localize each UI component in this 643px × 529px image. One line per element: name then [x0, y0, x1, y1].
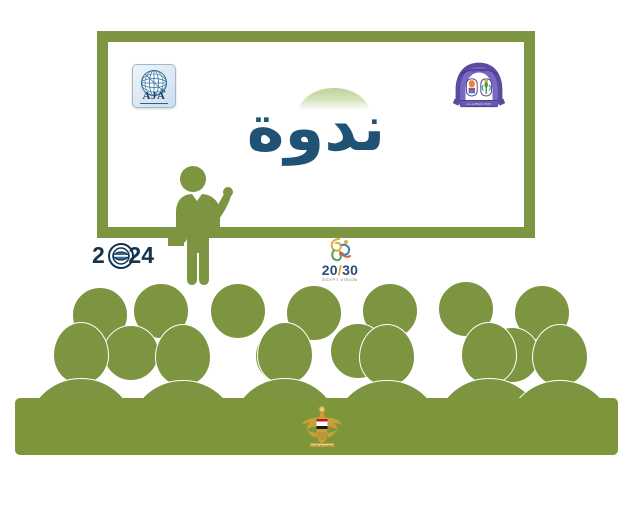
- audience-head-front: [53, 322, 109, 384]
- audience-figures: [0, 280, 643, 410]
- audience-head-front: [155, 324, 211, 386]
- egypt-coat-of-arms: جمهورية مصر العربية: [300, 404, 344, 450]
- egypt-vision-2030-logo: 20/30 EGYPT VISION: [312, 237, 368, 283]
- vision-digits-left: 20: [322, 262, 338, 278]
- poster-title: ندوة: [108, 97, 524, 161]
- whiteboard-frame: AJA جامعة الأزهر A: [97, 31, 535, 238]
- audience-head-front: [257, 322, 313, 384]
- svg-text:جامعة الأزهر: جامعة الأزهر: [470, 69, 487, 73]
- vision-2030-digits: 20/30: [312, 263, 368, 277]
- vision-2030-mark-icon: [325, 237, 355, 263]
- audience-head-front: [359, 324, 415, 386]
- 2024-digits-right: 24: [128, 240, 154, 270]
- presenter-figure: [168, 165, 236, 287]
- vision-digits-right: 30: [342, 262, 358, 278]
- audience-head-front: [532, 324, 588, 386]
- 2024-badge: 2 24: [92, 240, 154, 270]
- 2024-digits-left: 2: [92, 240, 105, 270]
- seminar-poster: AJA جامعة الأزهر A: [0, 0, 643, 529]
- svg-text:جمهورية مصر العربية: جمهورية مصر العربية: [311, 443, 333, 447]
